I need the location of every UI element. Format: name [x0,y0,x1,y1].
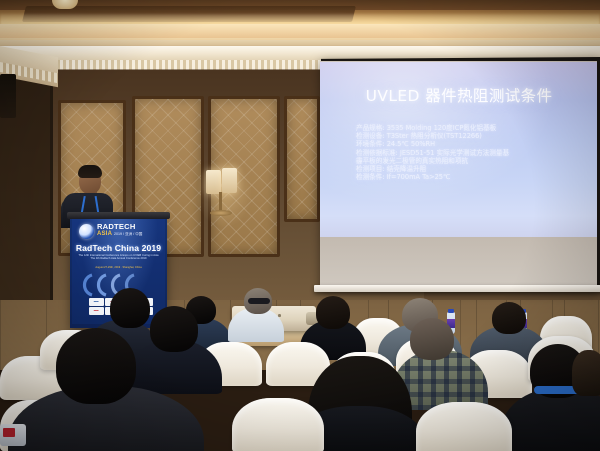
conference-photo: UVLED 器件热阻测试条件 产品规格: 3535 Molding 120度IC… [0,0,600,451]
sunglasses-icon [248,298,270,304]
attendee-head [110,288,150,328]
event-subtitle: The 12th International Conference & Expo… [76,254,161,261]
radtech-asia-sub: 2019 / 亚洲 / 中国 [114,232,142,236]
slide-line: 环境条件: 24.5℃ 50%RH [356,140,571,148]
screen-bottom-bar [314,285,600,292]
wall-sconce-stem [219,192,222,212]
radtech-logo-line1: RADTECH [97,223,159,231]
wall-sconce-base [210,210,232,216]
wall-sconce-shade-right [222,168,237,193]
screen-unlit-area [320,237,597,286]
radtech-logo: RADTECH ASIA 2019 / 亚洲 / 中国 [79,223,159,240]
radtech-globe-icon [79,224,94,239]
slide-line: 检测条件: If=700mA Ta>25℃ [356,173,571,181]
attendee-head [410,318,454,360]
radtech-asia-text: ASIA [97,231,112,237]
sponsor-logo: ▬▬ [89,298,104,306]
slide-line: 产品规格: 3535 Molding 120度ICP氮化铝基板 [356,124,571,132]
chair-back [416,402,512,451]
radtech-wordmark: RADTECH ASIA 2019 / 亚洲 / 中国 [97,223,159,238]
event-title: RadTech China 2019 [74,243,163,253]
cove-light-band [0,24,600,38]
attendee-foreground-head [56,328,136,404]
attendee-head [150,306,198,352]
ceiling-speaker-icon [0,74,16,118]
wall-sconce-shade-left [206,170,221,194]
attendee-head [572,350,600,396]
radtech-logo-line2: ASIA 2019 / 亚洲 / 中国 [97,231,159,238]
presenter-hair [78,165,102,178]
slide-line: 检测项目: 结壳降温升阻 [356,165,571,173]
slide-line: 霾平板的发光二极管的真实热阻和项抗 [356,157,571,165]
podium-top-surface [67,212,170,219]
event-dates: August 27-29th, 2019 · Shanghai, China [76,266,161,269]
slide-body: 产品规格: 3535 Molding 120度ICP氮化铝基板 检测设备: T3… [356,124,571,181]
sponsor-logo: ▬▬ [89,307,104,315]
flag-pin-icon [3,428,15,437]
wall-panel [284,96,320,222]
chair-back [232,398,324,451]
attendee-head [492,302,526,334]
slide-line: 检测依据标准: JESD51-51 实际光学测试方法测量基 [356,149,571,157]
slide-title: UVLED 器件热阻测试条件 [326,84,592,106]
attendee-head [316,296,350,329]
